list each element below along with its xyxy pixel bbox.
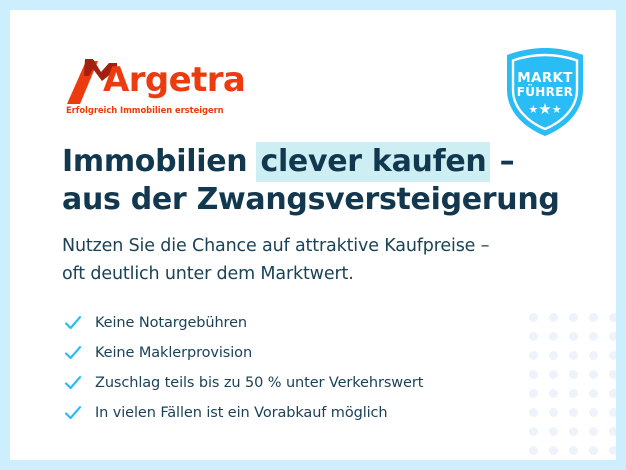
dot <box>589 332 598 341</box>
headline-line1-before: Immobilien <box>62 144 257 179</box>
checklist-item-label: Keine Notargebühren <box>95 315 247 331</box>
headline-line2: aus der Zwangsversteigerung <box>62 182 560 217</box>
dot <box>609 408 616 417</box>
benefits-checklist: Keine NotargebührenKeine Maklerprovision… <box>62 308 562 428</box>
dot <box>549 446 558 455</box>
dot <box>569 313 578 322</box>
dot <box>609 351 616 360</box>
dot <box>569 427 578 436</box>
subtitle-line1: Nutzen Sie die Chance auf attraktive Kau… <box>62 236 489 256</box>
logo-tagline: Erfolgreich Immobilien ersteigern <box>66 105 224 115</box>
dot <box>549 427 558 436</box>
dot <box>609 389 616 398</box>
dot <box>609 427 616 436</box>
star-icon-center: ★ <box>538 101 551 118</box>
dot <box>569 408 578 417</box>
checklist-item-label: Zuschlag teils bis zu 50 % unter Verkehr… <box>95 375 423 391</box>
dot <box>609 370 616 379</box>
dot <box>589 446 598 455</box>
dot <box>529 446 538 455</box>
dot <box>569 351 578 360</box>
ad-banner: Argetra Erfolgreich Immobilien ersteiger… <box>0 0 626 470</box>
markt-fuehrer-badge: MARKT FÜHRER ★★★ <box>499 46 591 138</box>
dot <box>609 446 616 455</box>
checklist-item-label: In vielen Fällen ist ein Vorabkauf mögli… <box>95 405 388 421</box>
dot <box>589 351 598 360</box>
checklist-item: Keine Notargebühren <box>62 308 562 338</box>
check-icon <box>62 342 84 364</box>
subtitle: Nutzen Sie die Chance auf attraktive Kau… <box>62 232 582 288</box>
check-icon <box>62 402 84 424</box>
headline-highlight: clever kaufen <box>256 142 490 182</box>
headline: Immobilien clever kaufen – aus der Zwang… <box>62 143 582 219</box>
checklist-item: Keine Maklerprovision <box>62 338 562 368</box>
dot <box>569 332 578 341</box>
dot <box>569 446 578 455</box>
dot <box>609 332 616 341</box>
check-icon <box>62 312 84 334</box>
checklist-item-label: Keine Maklerprovision <box>95 345 252 361</box>
badge-line-1: MARKT <box>499 70 591 86</box>
badge-stars: ★★★ <box>499 102 591 117</box>
dot <box>589 389 598 398</box>
dot <box>529 427 538 436</box>
dot <box>589 408 598 417</box>
logo-wordmark: Argetra <box>103 63 245 97</box>
argetra-logo[interactable]: Argetra Erfolgreich Immobilien ersteiger… <box>65 56 245 122</box>
checklist-item: In vielen Fällen ist ein Vorabkauf mögli… <box>62 398 562 428</box>
star-icon-left: ★ <box>528 104 538 116</box>
dot <box>589 370 598 379</box>
checklist-item: Zuschlag teils bis zu 50 % unter Verkehr… <box>62 368 562 398</box>
dot <box>589 427 598 436</box>
dot <box>609 313 616 322</box>
dot <box>589 313 598 322</box>
dot <box>569 370 578 379</box>
subtitle-line2: oft deutlich unter dem Marktwert. <box>62 264 354 284</box>
star-icon-right: ★ <box>552 104 562 116</box>
banner-card: Argetra Erfolgreich Immobilien ersteiger… <box>10 10 616 460</box>
badge-line-2: FÜHRER <box>499 85 591 99</box>
headline-line1-after: – <box>489 144 514 179</box>
check-icon <box>62 372 84 394</box>
dot <box>569 389 578 398</box>
